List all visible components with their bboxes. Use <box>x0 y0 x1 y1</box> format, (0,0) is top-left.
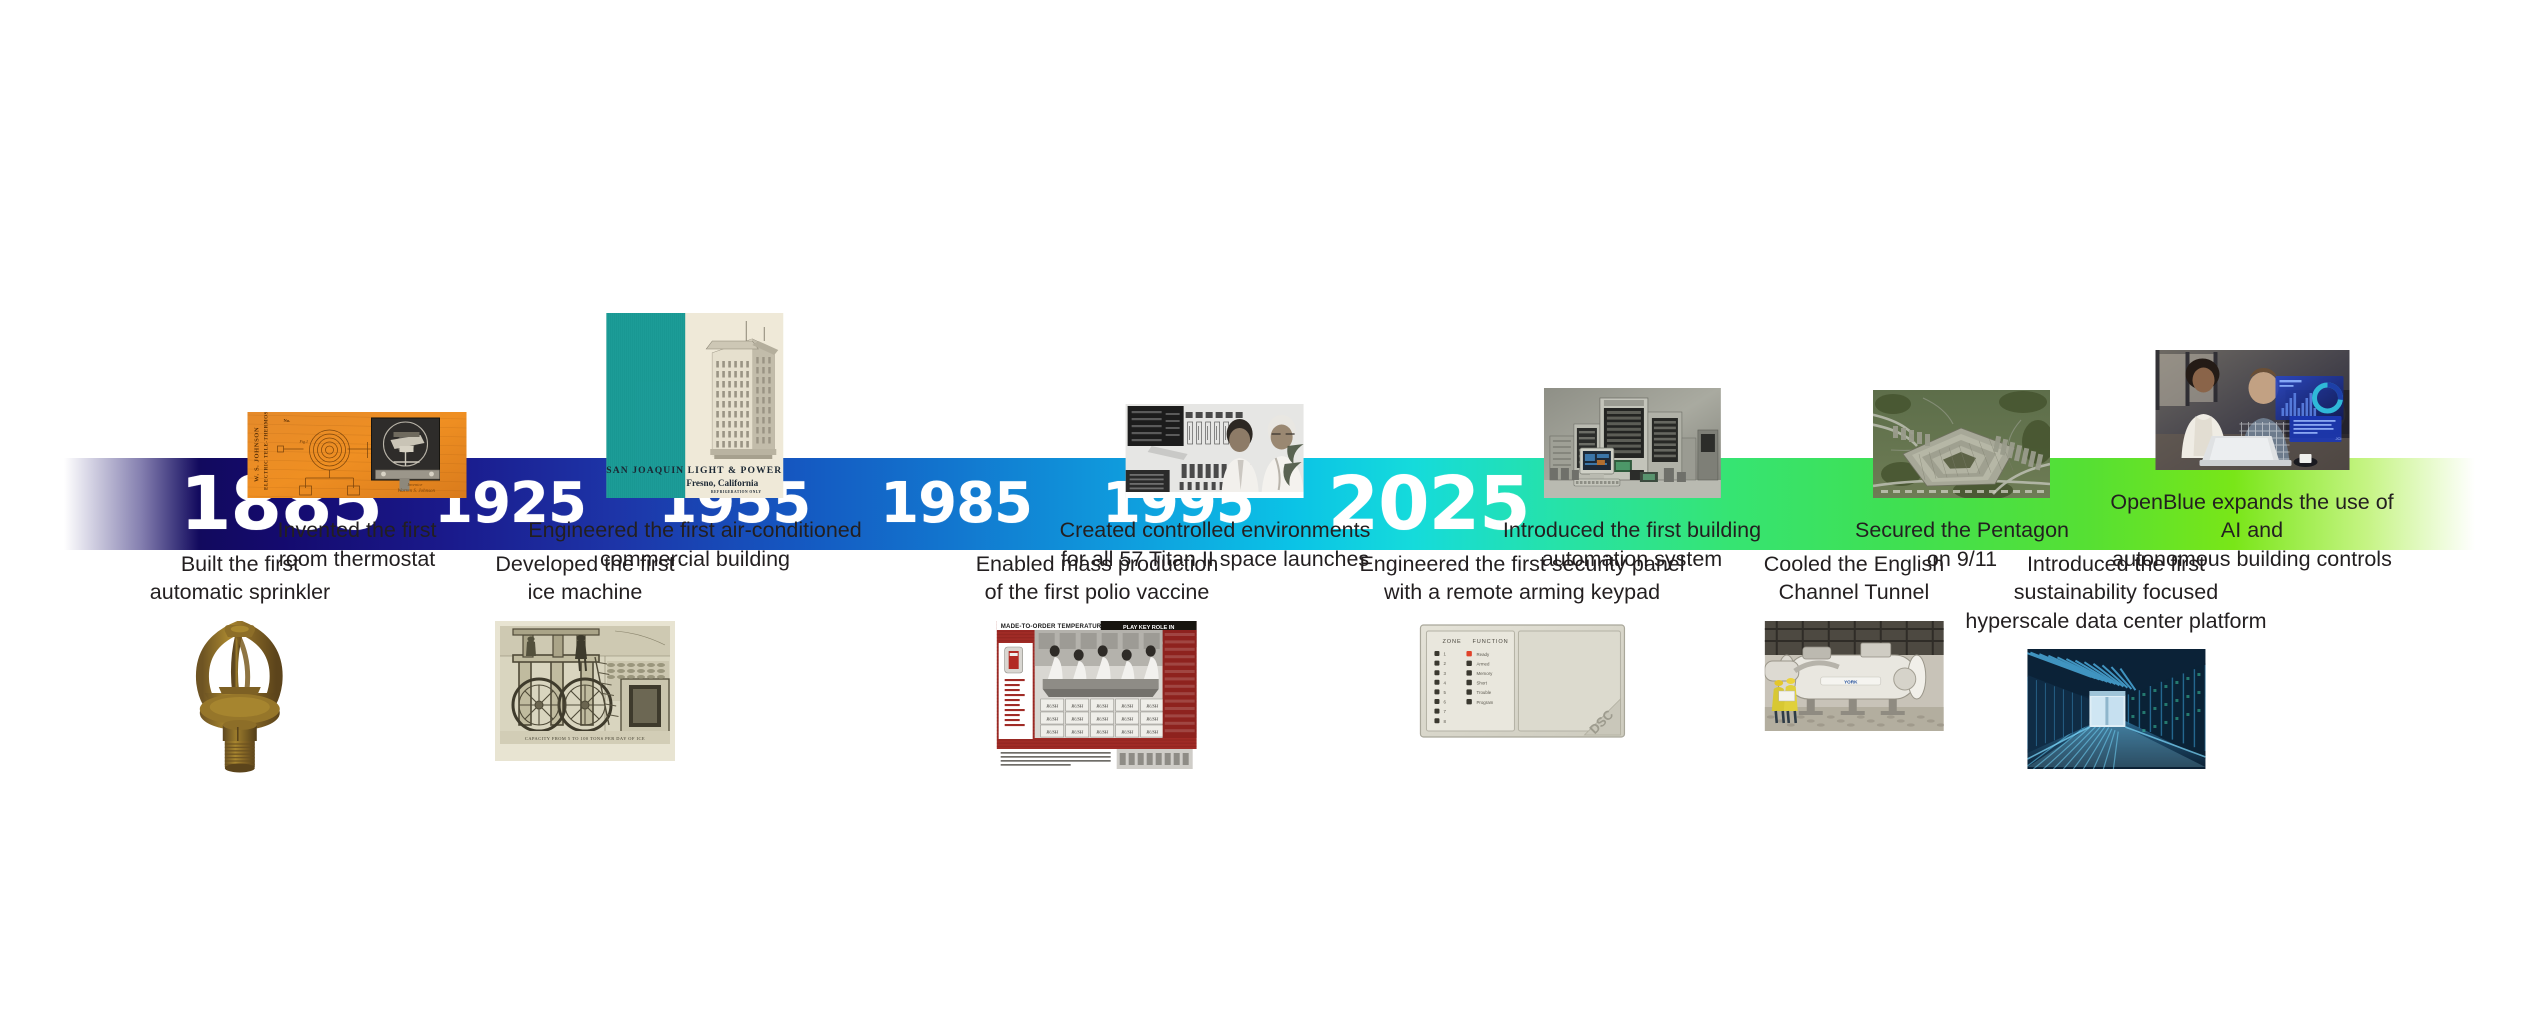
svg-text:RUSH: RUSH <box>1096 716 1109 721</box>
svg-text:RUSH: RUSH <box>1121 729 1134 734</box>
milestone-caption: Developed the first ice machine <box>495 550 674 607</box>
svg-text:JCI: JCI <box>2335 436 2341 441</box>
svg-text:RUSH: RUSH <box>1146 716 1159 721</box>
milestone-bottom-1925: Developed the first ice machine <box>495 550 675 761</box>
milestone-top-1885: W. S. JOHNSON ELECTRIC TELE-THERMOSCOPE … <box>248 412 467 573</box>
svg-text:RUSH: RUSH <box>1146 703 1159 708</box>
svg-text:W. S. JOHNSON: W. S. JOHNSON <box>254 427 261 482</box>
svg-text:RUSH: RUSH <box>1121 716 1134 721</box>
svg-text:Fresno, California: Fresno, California <box>687 478 759 488</box>
milestone-caption: Enabled mass production of the first pol… <box>976 550 1219 607</box>
automation-cabinets-image <box>1543 388 1720 498</box>
svg-text:No.: No. <box>284 418 291 423</box>
svg-text:RUSH: RUSH <box>1071 703 1084 708</box>
svg-text:Program: Program <box>1476 700 1493 705</box>
milestone-top-1995: Secured the Pentagon on 9/11 <box>1855 390 2069 573</box>
milestone-caption: Cooled the English Channel Tunnel <box>1764 550 1944 607</box>
svg-text:YORK: YORK <box>1844 679 1858 684</box>
openblue-office-image: JCI <box>2155 350 2349 470</box>
year-marker-1985: 1985 <box>880 476 1032 532</box>
svg-text:MADE-TO-ORDER TEMPERATURES: MADE-TO-ORDER TEMPERATURES <box>1001 623 1110 630</box>
svg-text:RUSH: RUSH <box>1046 716 1059 721</box>
milestone-caption: Engineered the first security panel with… <box>1359 550 1684 607</box>
milestone-top-1985: Introduced the first building automation… <box>1503 388 1761 573</box>
svg-text:RUSH: RUSH <box>1096 729 1109 734</box>
milestone-caption: Introduced the first sustainability focu… <box>1965 550 2266 635</box>
brass-sprinkler-image <box>175 621 305 776</box>
milestone-bottom-1985: Engineered the first security panel with… <box>1359 550 1684 741</box>
svg-text:RUSH: RUSH <box>1096 703 1109 708</box>
svg-text:Trouble: Trouble <box>1476 690 1491 695</box>
svg-text:ELECTRIC TELE-THERMOSCOPE: ELECTRIC TELE-THERMOSCOPE <box>264 412 270 490</box>
data-center-corridor-image <box>2027 649 2205 769</box>
svg-text:Memory: Memory <box>1476 671 1493 676</box>
milestone-caption: Built the first automatic sprinkler <box>150 550 330 607</box>
milestone-bottom-1995: Cooled the English Channel Tunnel YORK <box>1764 550 1944 731</box>
svg-text:RUSH: RUSH <box>1071 729 1084 734</box>
milestone-bottom-1885: Built the first automatic sprinkler <box>150 550 330 776</box>
industrial-chiller-image: YORK <box>1764 621 1943 731</box>
svg-text:RUSH: RUSH <box>1046 729 1059 734</box>
pentagon-aerial-image <box>1873 390 2050 498</box>
milestone-top-1925: SAN JOAQUIN LIGHT & POWER Fresno, Califo… <box>528 313 861 573</box>
svg-text:RUSH: RUSH <box>1071 716 1084 721</box>
milestone-top-1955: Created controlled environments for all … <box>1060 404 1371 573</box>
polio-vaccine-ad-image: MADE-TO-ORDER TEMPERATURES PLAY KEY ROLE… <box>997 621 1197 769</box>
ice-machine-engraving-image: CAPACITY FROM 5 TO 100 TONS PER DAY OF I… <box>495 621 675 761</box>
timeline-infographic: 188519251955198519952025 W. S. JOHNSON E… <box>0 0 2539 1031</box>
svg-text:Ready: Ready <box>1476 652 1489 657</box>
svg-text:RUSH: RUSH <box>1046 703 1059 708</box>
svg-text:RUSH: RUSH <box>1146 729 1159 734</box>
san-joaquin-brochure-image: SAN JOAQUIN LIGHT & POWER Fresno, Califo… <box>606 313 783 498</box>
svg-text:Fig.1: Fig.1 <box>299 439 309 444</box>
svg-text:Armed: Armed <box>1476 661 1489 666</box>
svg-text:FUNCTION: FUNCTION <box>1472 639 1508 645</box>
thermostat-patent-image: W. S. JOHNSON ELECTRIC TELE-THERMOSCOPE … <box>248 412 467 498</box>
milestone-bottom-2025: Introduced the first sustainability focu… <box>1965 550 2266 769</box>
svg-text:CAPACITY FROM 5 TO 100 TONS PE: CAPACITY FROM 5 TO 100 TONS PER DAY OF I… <box>525 736 645 741</box>
milestone-top-2025: JCI OpenBlue expands the use of AI and a… <box>2109 350 2396 573</box>
svg-text:REFRIGERATION ONLY: REFRIGERATION ONLY <box>711 490 761 494</box>
security-keypad-image: ZONE FUNCTION 1 2 3 4 5 6 7 8 Ready Arme… <box>1418 621 1626 741</box>
svg-text:SAN JOAQUIN LIGHT & POWER: SAN JOAQUIN LIGHT & POWER <box>606 465 782 476</box>
milestone-bottom-1955: Enabled mass production of the first pol… <box>976 550 1219 769</box>
svg-text:Warren S. Johnson: Warren S. Johnson <box>398 489 436 494</box>
svg-text:RUSH: RUSH <box>1121 703 1134 708</box>
control-room-photo-image <box>1126 404 1304 498</box>
svg-text:Inventor: Inventor <box>407 482 423 487</box>
svg-text:Short: Short <box>1476 680 1487 685</box>
svg-text:ZONE: ZONE <box>1442 639 1461 645</box>
